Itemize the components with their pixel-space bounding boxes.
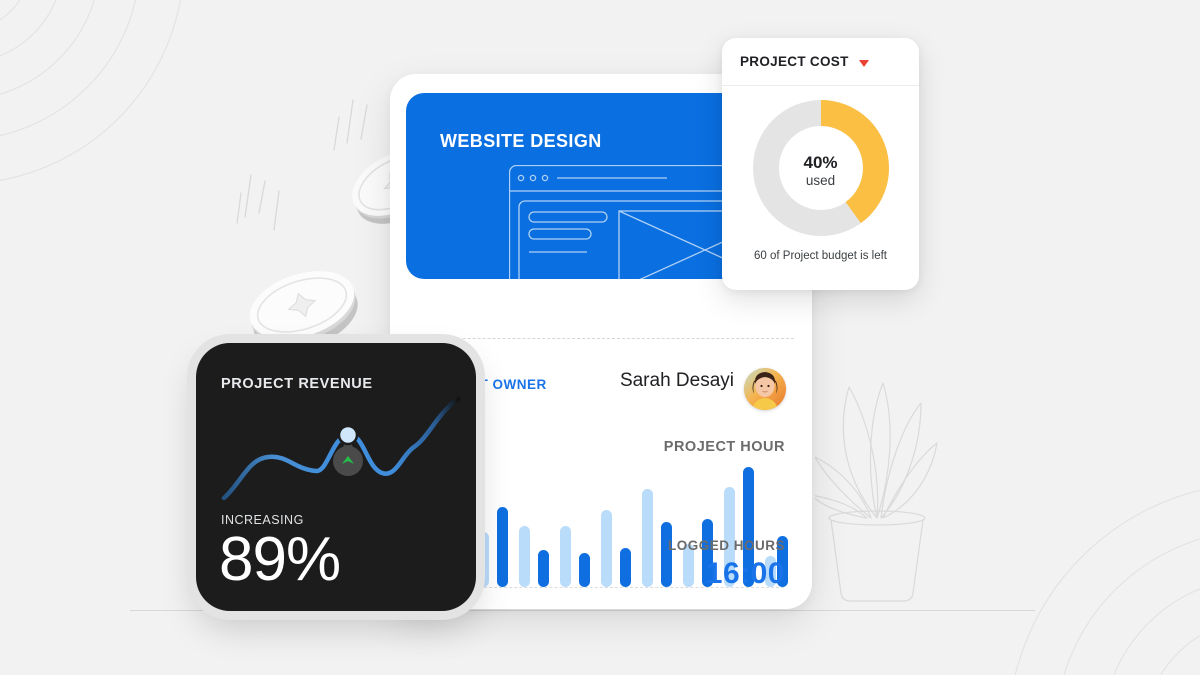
screenshot-canvas: WEBSITE DESIGN <box>0 0 1200 675</box>
logged-hours-label: LOGGED HOURS <box>668 538 785 553</box>
bar <box>478 532 489 587</box>
logged-hours-value: 16:00 <box>706 557 785 591</box>
bar <box>620 548 631 587</box>
avatar[interactable] <box>744 368 786 410</box>
corner-arcs-top-left-icon <box>0 0 190 190</box>
bar <box>519 526 530 587</box>
bar <box>642 489 653 587</box>
project-cost-title: PROJECT COST <box>740 54 849 69</box>
bar <box>538 550 549 587</box>
chevron-down-icon[interactable] <box>859 60 869 67</box>
project-owner-name: Sarah Desayi <box>620 370 734 392</box>
bar <box>560 526 571 587</box>
bar <box>497 507 508 587</box>
project-cost-card: PROJECT COST 40% used 60 of Project budg… <box>722 38 919 290</box>
corner-arcs-bottom-right-icon <box>1010 485 1200 675</box>
project-cost-footer: 60 of Project budget is left <box>722 250 919 262</box>
line-chart-marker <box>339 426 357 444</box>
potted-plant-illustration <box>815 365 1005 615</box>
project-cost-percent-label: used <box>722 173 919 188</box>
project-revenue-value: 89% <box>219 529 340 591</box>
project-revenue-card: PROJECT REVENUE INCREASING 89% <box>196 343 476 611</box>
bar <box>579 553 590 587</box>
project-cost-percent: 40% <box>722 153 919 173</box>
bar <box>661 522 672 587</box>
project-cost-header: PROJECT COST <box>722 38 919 86</box>
section-divider <box>408 338 794 339</box>
project-hour-title: PROJECT HOUR <box>664 439 785 455</box>
project-revenue-line-chart <box>196 363 476 513</box>
bar <box>601 510 612 587</box>
page-title: WEBSITE DESIGN <box>440 131 602 152</box>
